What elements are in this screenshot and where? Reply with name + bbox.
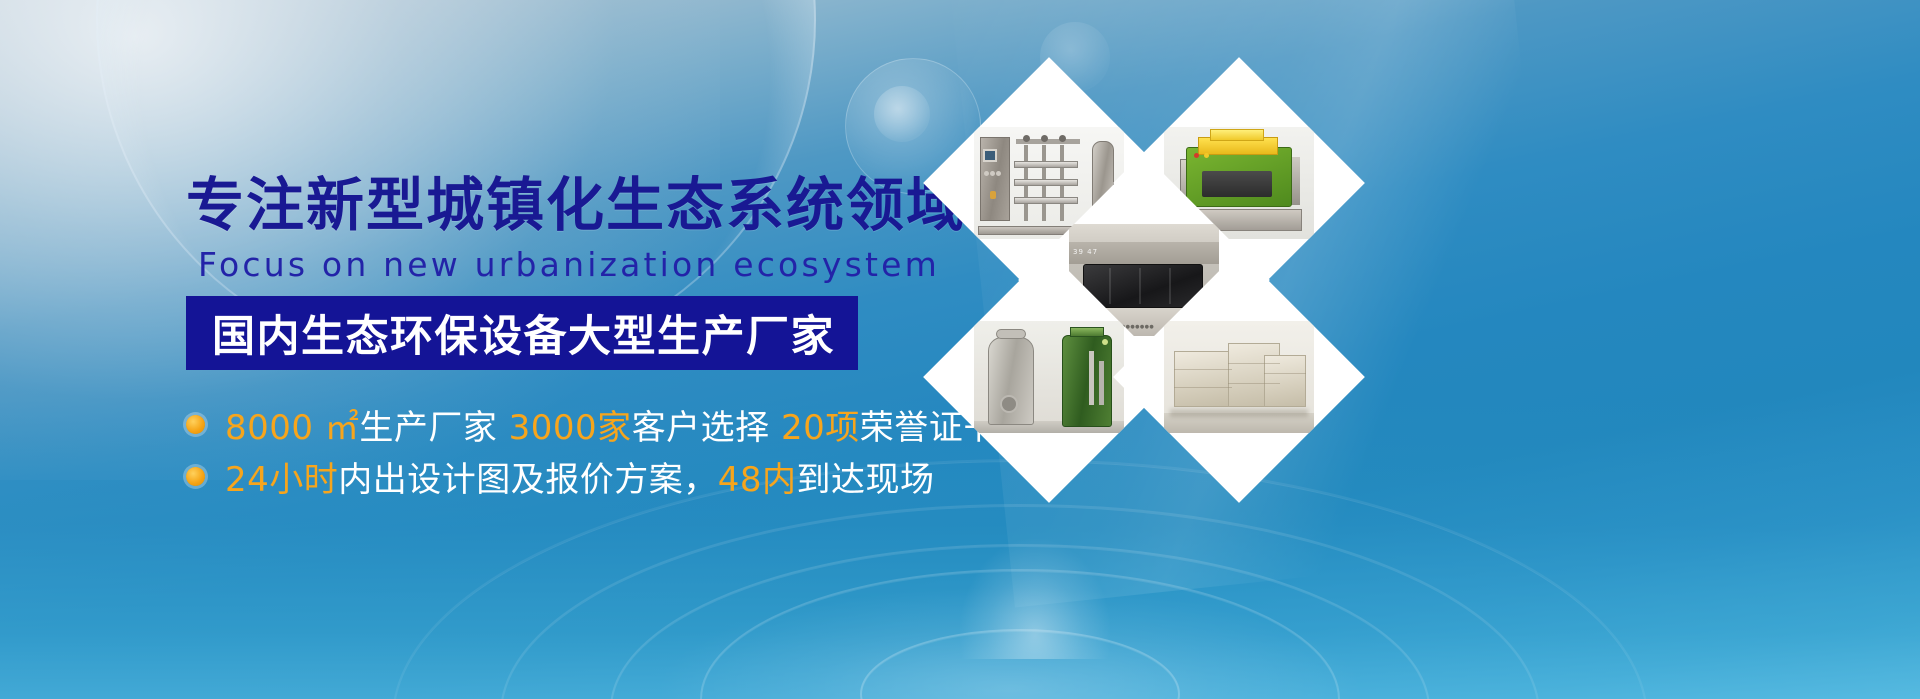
list-item: 8000 ㎡生产厂家 3000家客户选择 20项荣誉证书 <box>186 398 926 450</box>
text-segment-2: 3000家 <box>509 408 632 448</box>
text-segment-2: 48内 <box>718 460 797 500</box>
banner-headline: 专注新型城镇化生态系统领域 <box>186 176 966 234</box>
bullet-line-1-text: 8000 ㎡生产厂家 3000家客户选择 20项荣誉证书 <box>225 400 998 449</box>
banner-copy-block: 专注新型城镇化生态系统领域 Focus on new urbanization … <box>0 0 920 699</box>
banner-subheadline: Focus on new urbanization ecosystem <box>198 248 940 281</box>
list-item: 24小时内出设计图及报价方案，48内到达现场 <box>186 450 926 502</box>
text-segment-4: 20项 <box>781 408 860 448</box>
water-splash-highlight <box>960 539 1110 659</box>
banner-strip-text: 国内生态环保设备大型生产厂家 <box>212 302 835 364</box>
text-segment-0: 24小时 <box>225 460 338 500</box>
bullet-dot-icon <box>186 467 205 486</box>
text-segment-0: 8000 ㎡ <box>225 408 359 448</box>
text-segment-1: 生产厂家 <box>359 408 508 448</box>
photo-grey-and-green-pump-stations <box>974 321 1124 433</box>
hero-banner: 专注新型城镇化生态系统领域 Focus on new urbanization … <box>0 0 1920 699</box>
product-diamond-grid: 39 47 ●●●●●●●●●●●● <box>900 48 1320 488</box>
text-segment-1: 内出设计图及报价方案， <box>338 460 718 500</box>
bullet-dot-icon <box>186 415 205 434</box>
bullet-line-2-text: 24小时内出设计图及报价方案，48内到达现场 <box>225 452 935 501</box>
banner-bullet-list: 8000 ㎡生产厂家 3000家客户选择 20项荣誉证书 24小时内出设计图及报… <box>186 398 926 502</box>
banner-highlight-strip: 国内生态环保设备大型生产厂家 <box>186 296 858 370</box>
text-segment-3: 客户选择 <box>632 408 781 448</box>
photo-stacked-concrete-blocks <box>1164 321 1314 433</box>
